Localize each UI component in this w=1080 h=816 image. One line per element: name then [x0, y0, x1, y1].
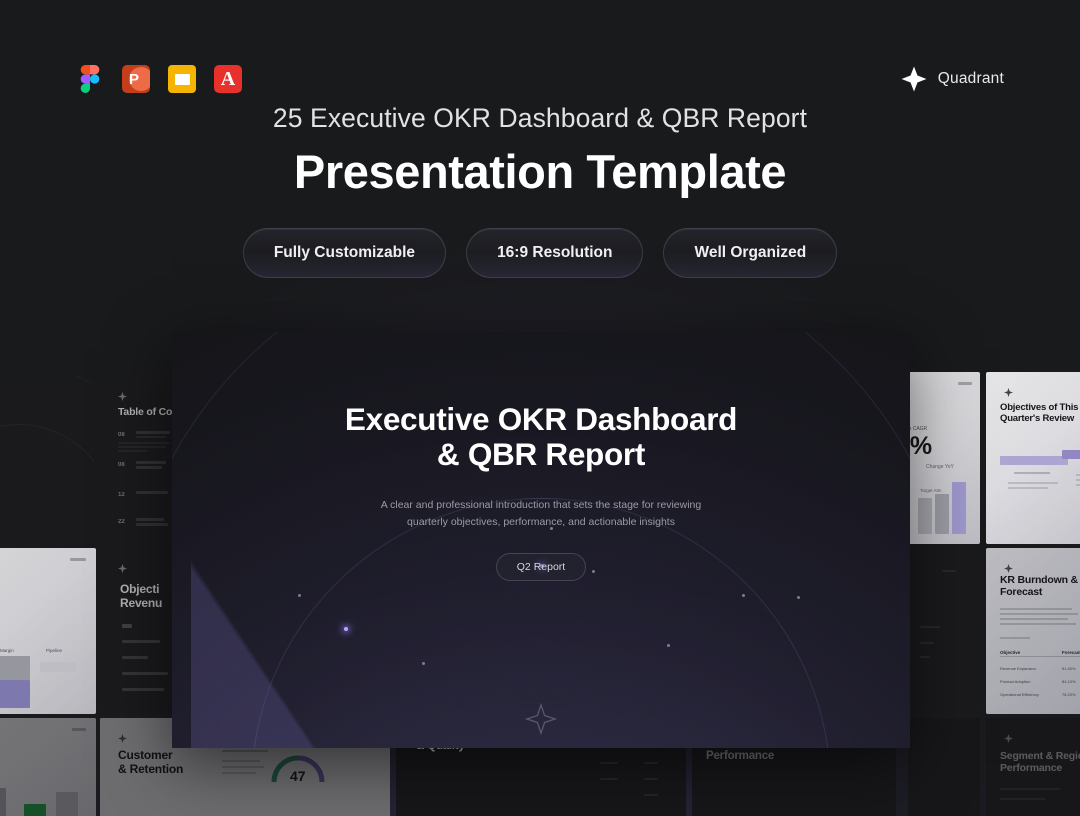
quadrant-mark-icon: [1004, 564, 1013, 573]
title-line-1: KR Burndown &: [1000, 574, 1078, 586]
feature-pills: Fully Customizable 16:9 Resolution Well …: [0, 228, 1080, 278]
title-line-2: Revenu: [120, 596, 162, 610]
thumbnail-title: Objectives of This Quarter's Review: [1000, 402, 1078, 424]
title-line-1: Objectives of This: [1000, 402, 1078, 413]
pill-well-organized[interactable]: Well Organized: [663, 228, 837, 278]
toc-num: 22: [118, 519, 125, 525]
title-line-1: Objecti: [120, 582, 159, 596]
quadrant-mark-icon: [1004, 388, 1013, 397]
quadrant-mark-icon: [524, 702, 558, 736]
hero-slide-title-line-1: Executive OKR Dashboard: [345, 401, 737, 437]
toc-num: 12: [118, 492, 125, 498]
toc-num: 08: [118, 432, 125, 438]
brand-name: Quadrant: [938, 70, 1004, 88]
glow-dot: [667, 644, 670, 647]
glow-dot: [344, 627, 348, 631]
bar-col-label: Margin: [0, 648, 14, 653]
table-cell: Operational Efficiency: [1000, 692, 1039, 697]
thumbnail-title: Table of Co: [118, 406, 172, 418]
title-line-2: Performance: [1000, 762, 1062, 774]
thumbnail-dark-bottom-right-narrow[interactable]: [908, 718, 980, 816]
table-header: Forecast: [1062, 650, 1080, 655]
pill-fully-customizable[interactable]: Fully Customizable: [243, 228, 446, 278]
hero-slide-subtitle-line-1: A clear and professional introduction th…: [381, 499, 701, 511]
thumbnail-title: Segment & Region Performance: [1000, 750, 1080, 775]
table-cell: Revenue Expansion: [1000, 666, 1036, 671]
hero-section: 25 Executive OKR Dashboard & QBR Report …: [0, 104, 1080, 278]
title-line-2: & Retention: [118, 762, 183, 776]
thumbnail-kr-burndown[interactable]: KR Burndown & Forecast Objective Forecas…: [986, 548, 1080, 714]
bar-col-label: Pipeline: [46, 648, 62, 653]
table-cell: Product Adoption: [1000, 679, 1030, 684]
kpi-series-label: Target Attn: [920, 488, 942, 493]
quadrant-logo-icon: [901, 66, 927, 92]
pill-resolution[interactable]: 16:9 Resolution: [466, 228, 643, 278]
quadrant-mark-icon: [1004, 734, 1013, 743]
thumbnail-bottom-left-chart[interactable]: [0, 718, 96, 816]
thumbnail-title: Objecti Revenu: [120, 582, 162, 610]
hero-slide-subtitle-line-2: quarterly objectives, performance, and a…: [407, 516, 675, 528]
glow-dot: [797, 596, 800, 599]
hero-slide-title: Executive OKR Dashboard & QBR Report: [172, 402, 910, 473]
top-bar: P A Quadrant: [0, 58, 1080, 100]
hero-slide-subtitle: A clear and professional introduction th…: [172, 497, 910, 532]
title-line-1: Segment & Region: [1000, 750, 1080, 762]
title-line-2: Forecast: [1000, 586, 1042, 598]
thumbnail-kpi-percent[interactable]: Gross CAGR 8% Change YoY Target Attn: [908, 372, 980, 544]
toc-num: 08: [118, 462, 125, 468]
title-line-2: Performance: [706, 750, 774, 762]
title-line-2: Quarter's Review: [1000, 413, 1074, 424]
hero-slide-preview[interactable]: Executive OKR Dashboard & QBR Report A c…: [172, 332, 910, 748]
thumbnail-segment-region[interactable]: Segment & Region Performance: [986, 718, 1080, 816]
pdf-icon[interactable]: A: [214, 65, 242, 93]
thumbnail-dashboard-left[interactable]: oard: [0, 376, 94, 544]
pdf-letter: A: [221, 69, 235, 89]
thumbnail-bar-card[interactable]: Revenue Margin Pipeline: [0, 548, 96, 714]
google-slides-icon[interactable]: [168, 65, 196, 93]
quadrant-mark-icon: [118, 392, 127, 401]
table-header: Objective: [1000, 650, 1020, 655]
quadrant-mark-icon: [118, 734, 127, 743]
thumbnail-title: Customer & Retention: [118, 748, 183, 776]
glow-dot: [422, 662, 425, 665]
hero-slide-badge[interactable]: Q2 Report: [496, 553, 586, 581]
glow-dot: [742, 594, 745, 597]
figma-icon[interactable]: [76, 65, 104, 93]
app-format-icons: P A: [76, 65, 242, 93]
kpi-value: 8%: [908, 432, 932, 461]
table-cell: 91.40%: [1062, 666, 1076, 671]
brand[interactable]: Quadrant: [901, 66, 1004, 92]
thumbnail-objectives-review[interactable]: Objectives of This Quarter's Review: [986, 372, 1080, 544]
hero-title: Presentation Template: [0, 147, 1080, 196]
title-line-1: Customer: [118, 748, 172, 762]
table-cell: 84.10%: [1062, 679, 1076, 684]
kpi-caption: Change YoY: [926, 464, 954, 470]
thumbnail-dark-row2-right[interactable]: [908, 548, 980, 714]
glow-dot: [298, 594, 301, 597]
slides-inner-rect: [175, 74, 190, 85]
thumbnail-title: KR Burndown & Forecast: [1000, 574, 1078, 599]
quadrant-mark-icon: [118, 564, 127, 573]
gauge-value: 47: [290, 768, 306, 784]
powerpoint-icon[interactable]: P: [122, 65, 150, 93]
table-cell: 78.20%: [1062, 692, 1076, 697]
hero-eyebrow: 25 Executive OKR Dashboard & QBR Report: [0, 104, 1080, 133]
powerpoint-letter: P: [129, 72, 139, 87]
hero-slide-title-line-2: & QBR Report: [437, 436, 645, 472]
